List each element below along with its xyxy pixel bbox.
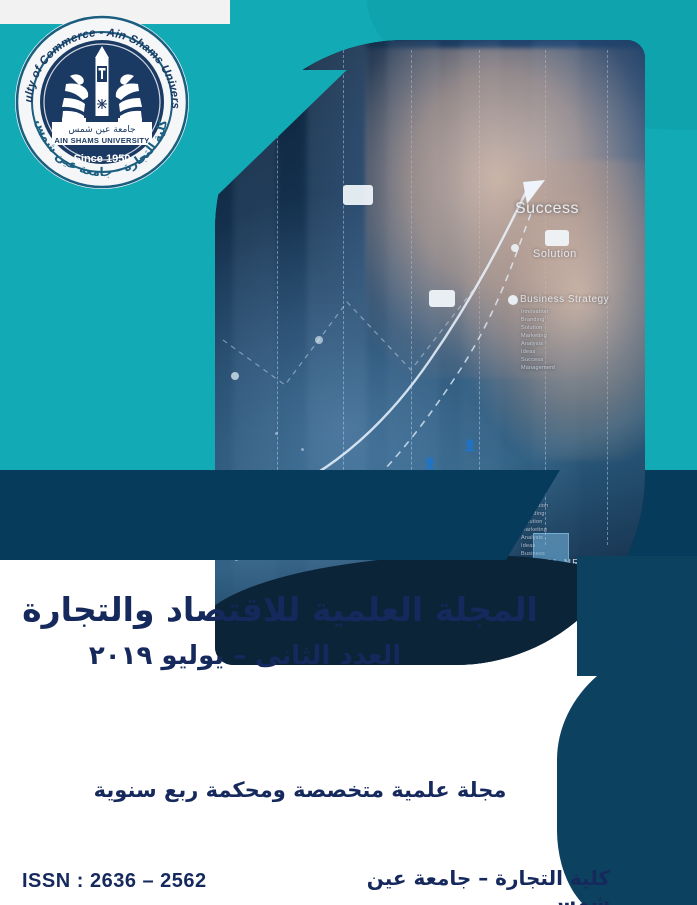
map-dot xyxy=(275,432,278,435)
issue-line: العدد الثانى – يوليو ٢٠١٩ xyxy=(0,636,560,676)
photo-label-success: Success xyxy=(515,200,579,218)
speech-bubble-icon xyxy=(343,185,373,205)
photo-label-business-strategy: Business Strategy xyxy=(520,294,609,305)
tagline: مجلة علمية متخصصة ومحكمة ربع سنوية xyxy=(0,778,600,802)
footer-faculty-name: كلية التجارة – جامعة عين شمس xyxy=(330,866,610,905)
speech-bubble-icon xyxy=(545,230,569,246)
person-icon: 👤 xyxy=(463,440,477,451)
logo-inner-name-en: AIN SHAMS UNIVERSITY xyxy=(54,136,149,145)
logo-inner-name-ar: جامعة عين شمس xyxy=(68,125,135,135)
speech-bubble-icon xyxy=(429,290,455,307)
map-dot xyxy=(301,448,304,451)
journal-title: المجلة العلمية للاقتصاد والتجارة xyxy=(0,588,560,632)
footer-issn: ISSN : 2636 – 2562 xyxy=(22,870,207,893)
university-logo: جامعة عين شمس AIN SHAMS UNIVERSITY Since… xyxy=(14,14,190,190)
photo-label-solution: Solution xyxy=(533,248,577,260)
person-icon: 👤 xyxy=(423,458,437,469)
photo-keyword-list-top: Innovation Branding Solution Marketing A… xyxy=(521,308,555,372)
navy-diagonal-sash xyxy=(0,470,560,560)
title-block: المجلة العلمية للاقتصاد والتجارة العدد ا… xyxy=(0,588,560,676)
journal-cover: Success Solution Business Strategy SOCIA… xyxy=(0,0,697,905)
